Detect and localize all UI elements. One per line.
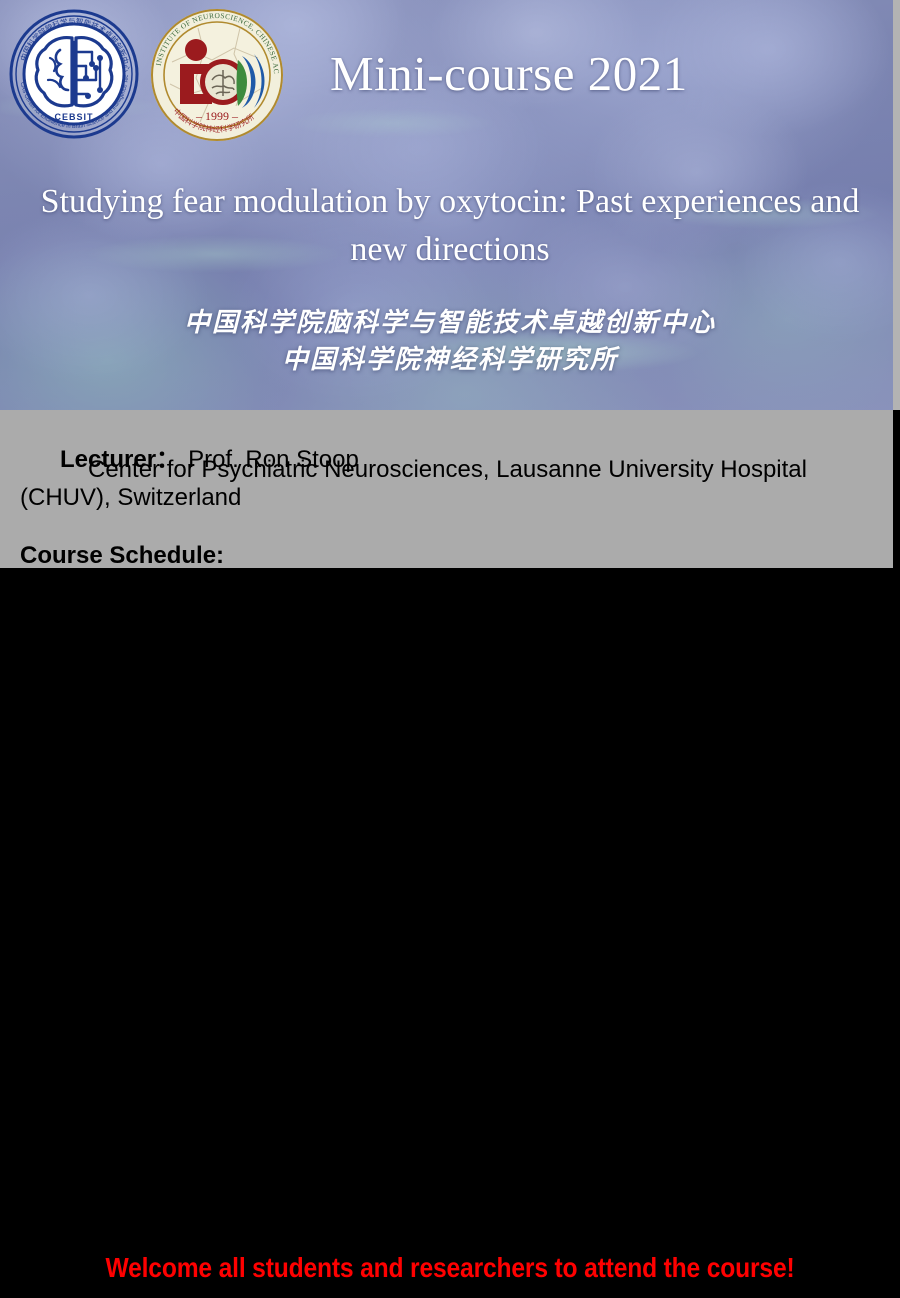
header-banner: CEBSIT 中国科学院脑科学与智能技术卓越创新中心 CAS Center fo… (0, 0, 893, 410)
info-panel: Lecturer：Prof. Ron Stoop Center for Psyc… (0, 410, 893, 568)
welcome-message: Welcome all students and researchers to … (54, 1252, 846, 1284)
lecturer-affiliation: Center for Psychiatric Neurosciences, La… (20, 456, 880, 513)
ion-logo: – 1999 – INSTITUTE OF NEUROSCIENCE, CHIN… (150, 8, 284, 142)
svg-text:– 1999 –: – 1999 – (195, 109, 239, 123)
course-schedule-heading: Course Schedule: (20, 542, 224, 568)
cebsit-logo: CEBSIT 中国科学院脑科学与智能技术卓越创新中心 CAS Center fo… (8, 8, 140, 140)
course-subtitle: Studying fear modulation by oxytocin: Pa… (40, 178, 860, 275)
svg-text:CEBSIT: CEBSIT (54, 112, 93, 122)
organization-line-2: 中国科学院神经科学研究所 (40, 342, 860, 379)
banner-right-edge (893, 0, 900, 410)
course-title: Mini-course 2021 (330, 48, 800, 99)
info-panel-right-edge (893, 410, 900, 568)
organization-line-1: 中国科学院脑科学与智能技术卓越创新中心 (40, 305, 860, 342)
organization-names: 中国科学院脑科学与智能技术卓越创新中心 中国科学院神经科学研究所 (40, 305, 860, 379)
course-schedule-body (0, 568, 900, 1298)
poster-page: CEBSIT 中国科学院脑科学与智能技术卓越创新中心 CAS Center fo… (0, 0, 900, 1298)
